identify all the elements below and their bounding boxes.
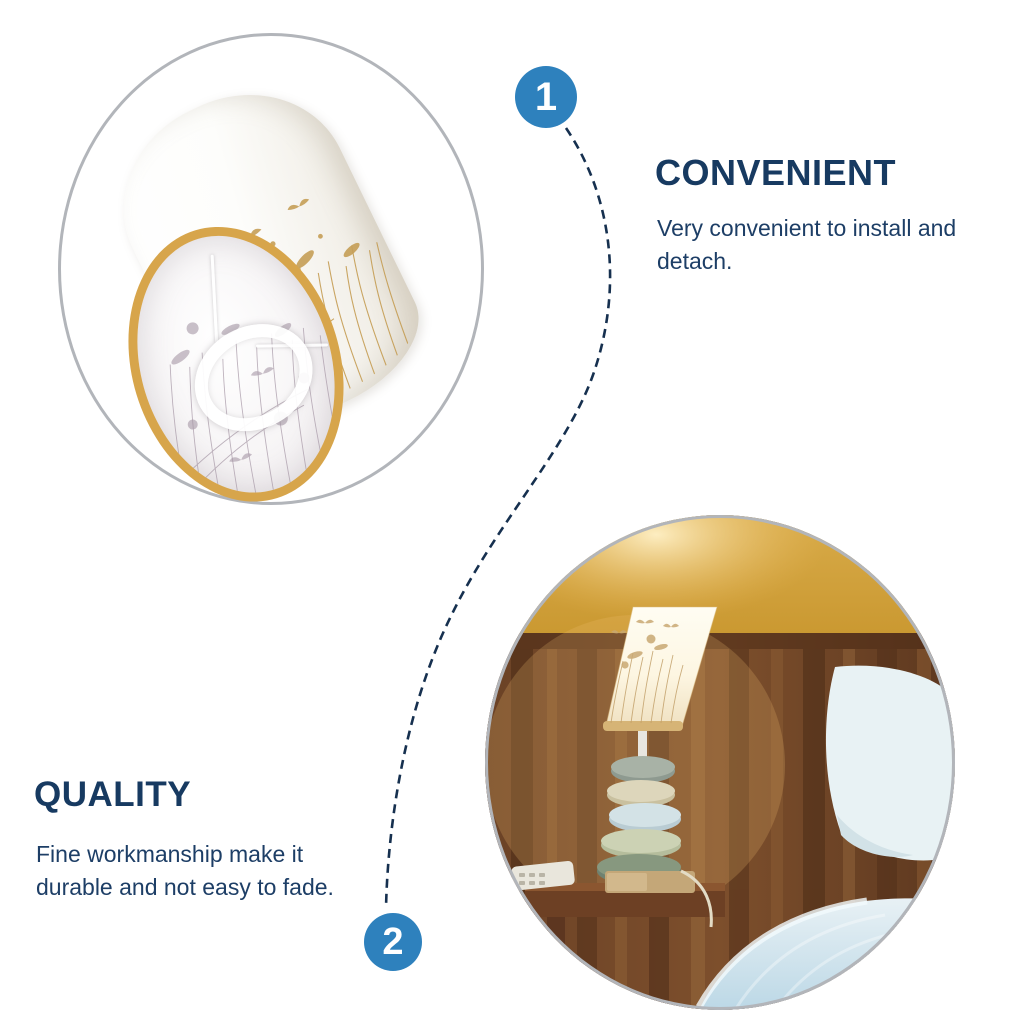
- feature-title-quality: QUALITY: [34, 775, 191, 815]
- lampshade-product-photo: [45, 40, 505, 520]
- scene-photo-ring: [485, 515, 955, 1010]
- lampshade-graphic: [31, 32, 499, 527]
- feature-body-convenient: Very convenient to install and detach.: [657, 212, 967, 277]
- step-badge-2[interactable]: 2: [364, 913, 422, 971]
- infographic-canvas: 1 2 CONVENIENT Very convenient to instal…: [0, 0, 1024, 1024]
- step-badge-1-number: 1: [535, 75, 557, 120]
- feature-body-quality: Fine workmanship make it durable and not…: [36, 838, 366, 903]
- step-badge-2-number: 2: [382, 921, 403, 964]
- step-badge-1[interactable]: 1: [515, 66, 577, 128]
- feature-title-convenient: CONVENIENT: [655, 152, 896, 194]
